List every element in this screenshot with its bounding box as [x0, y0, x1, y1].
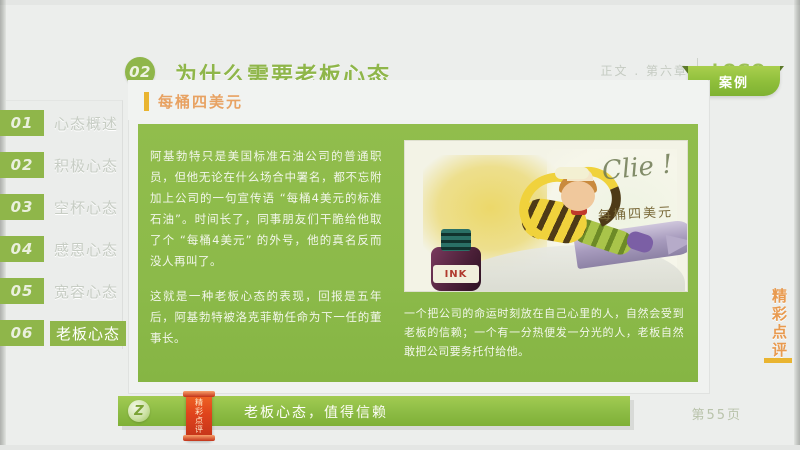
footer-slogan: 老板心态，值得信赖	[244, 402, 388, 422]
ink-bottle-icon: INK	[427, 229, 485, 291]
red-scroll-banner: 精彩点评	[186, 392, 212, 440]
sidebar-item-06-number: 06	[0, 320, 44, 346]
sidebar-item-03[interactable]: 03 空杯心态	[0, 194, 118, 220]
page-number: 第55页	[691, 404, 742, 423]
slide-bottom-edge	[0, 445, 800, 450]
bee-hands	[555, 167, 589, 179]
ink-bottle-cap	[441, 229, 471, 251]
breadcrumb: 正文 . 第六章	[601, 62, 688, 79]
sidebar-item-01-label: 心态概述	[54, 113, 118, 134]
sidebar-item-02[interactable]: 02 积极心态	[0, 152, 118, 178]
sidebar-item-01-number: 01	[0, 110, 44, 136]
sidebar: 01 心态概述 02 积极心态 03 空杯心态 04 感恩心态 05 宽容心态 …	[0, 100, 122, 348]
sidebar-item-06-label: 老板心态	[50, 321, 126, 346]
side-note-accent-bar	[764, 358, 792, 363]
body-paragraph-1: 阿基勃特只是美国标准石油公司的普通职员，但他无论在什么场合中署名，都不忘附加上公…	[150, 146, 382, 272]
bee-character-icon	[501, 167, 597, 263]
sidebar-item-05-label: 宽容心态	[54, 281, 118, 302]
footer-logo-icon: Z	[128, 400, 150, 422]
sidebar-item-04[interactable]: 04 感恩心态	[0, 236, 118, 262]
sidebar-item-02-label: 积极心态	[54, 155, 118, 176]
slide-top-edge	[0, 0, 800, 5]
body-text-block: 阿基勃特只是美国标准石油公司的普通职员，但他无论在什么场合中署名，都不忘附加上公…	[150, 146, 382, 363]
sidebar-item-03-label: 空杯心态	[54, 197, 118, 218]
bee-head	[561, 181, 595, 211]
body-paragraph-2: 这就是一种老板心态的表现，回报是五年后，阿基勃特被洛克菲勒任命为下一任的董事长。	[150, 286, 382, 349]
slide-root: 02 为什么需要老板心态 正文 . 第六章 LOGO 案例 01 心态概述 02…	[0, 0, 800, 450]
sidebar-item-01[interactable]: 01 心态概述	[0, 110, 118, 136]
sidebar-item-05-number: 05	[0, 278, 44, 304]
sidebar-item-06[interactable]: 06 老板心态	[0, 320, 126, 346]
sidebar-item-04-label: 感恩心态	[54, 239, 118, 260]
illustration: INK Clie ! 每桶四美元	[404, 140, 688, 292]
slide-header: 02 为什么需要老板心态 正文 . 第六章 LOGO	[0, 22, 800, 78]
sidebar-item-05[interactable]: 05 宽容心态	[0, 278, 118, 304]
red-scroll-banner-label: 精彩点评	[194, 398, 205, 434]
side-note-vertical-text: 精彩点评	[768, 288, 790, 360]
illustration-caption: 一个把公司的命运时刻放在自己心里的人，自然会受到老板的信赖；一个有一分热便发一分…	[404, 304, 684, 361]
sidebar-item-02-number: 02	[0, 152, 44, 178]
sidebar-item-03-number: 03	[0, 194, 44, 220]
pen-nib-icon	[666, 231, 688, 254]
handwritten-chinese-text: 每桶四美元	[598, 201, 674, 224]
ink-bottle-label: INK	[433, 265, 479, 283]
card-title-accent-bar	[144, 92, 149, 111]
card-title: 每桶四美元	[158, 91, 243, 112]
sidebar-item-04-number: 04	[0, 236, 44, 262]
